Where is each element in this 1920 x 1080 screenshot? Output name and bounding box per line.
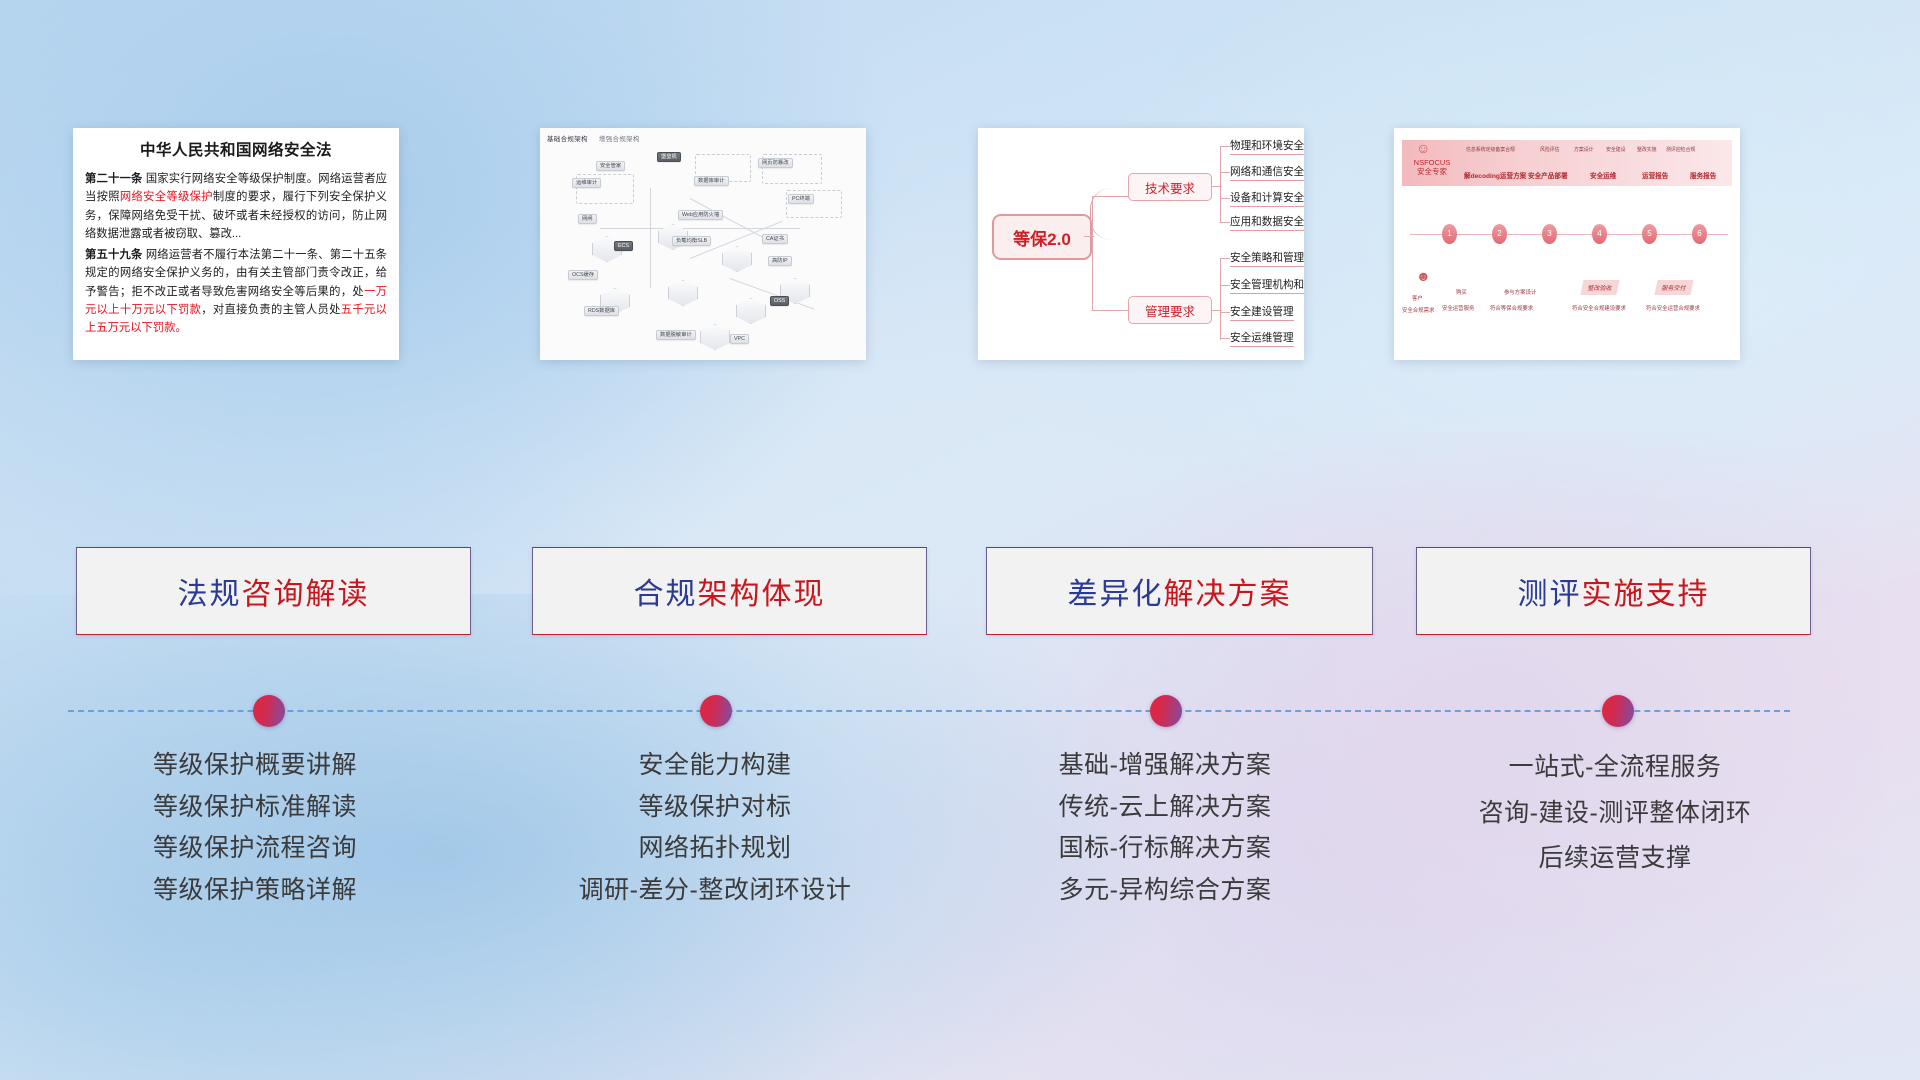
- arch-node: CA证书: [762, 234, 788, 244]
- list-item: 等级保护概要讲解: [60, 745, 450, 787]
- detail-column-4: 一站式-全流程服务 咨询-建设-测评整体闭环 后续运营支撑: [1410, 745, 1820, 882]
- law-article-59: 第五十九条 网络运营者不履行本法第二十一条、第二十五条规定的网络安全保护义务的，…: [85, 246, 387, 337]
- roadmap-footer: 安全运营服务: [1442, 304, 1474, 312]
- mindmap-leaf: 应用和数据安全: [1230, 214, 1304, 231]
- law-article-21-highlight: 网络安全等级保护: [120, 191, 213, 203]
- law-article-21-label: 第二十一条: [85, 173, 142, 185]
- card-nsfocus-roadmap[interactable]: ☺ NSFOCUS 安全专家 信息系统定级备案合规 风险评估 方案设计 安全建设…: [1394, 128, 1740, 360]
- arch-connector: [650, 188, 651, 288]
- list-item: 国标-行标解决方案: [965, 828, 1365, 870]
- label-text-red: 咨询解读: [242, 578, 370, 611]
- mindmap-root: 等保2.0: [992, 214, 1092, 260]
- list-item: 等级保护流程咨询: [60, 828, 450, 870]
- roadmap-top-label: 方案设计: [1574, 146, 1594, 153]
- roadmap-footer: 客户: [1412, 294, 1423, 302]
- arch-node: 高防IP: [768, 256, 792, 266]
- label-text: 合规架构体现: [634, 569, 826, 613]
- list-item: 一站式-全流程服务: [1410, 745, 1820, 791]
- timeline-dot-3[interactable]: [1150, 695, 1182, 727]
- roadmap-brand: NSFOCUS 安全专家: [1406, 158, 1458, 200]
- arch-node: PC终端: [788, 194, 814, 204]
- roadmap-chip: 整改验收: [1580, 280, 1619, 295]
- expert-avatar-icon: ☺: [1416, 140, 1430, 156]
- arch-node: ECS: [614, 241, 633, 251]
- service-label-row: 法规咨询解读 合规架构体现 差异化解决方案 测评实施支持: [0, 547, 1920, 635]
- timeline: [0, 693, 1920, 729]
- arch-node: Web应用防火墙: [678, 210, 723, 220]
- roadmap-footer: 符合安全合规建设要求: [1572, 304, 1626, 312]
- timeline-dot-4[interactable]: [1602, 695, 1634, 727]
- arch-node: 安全管家: [596, 161, 625, 171]
- roadmap-brand-line1: NSFOCUS: [1406, 158, 1458, 167]
- label-text: 法规咨询解读: [178, 569, 370, 613]
- roadmap-top-label: 风险评估: [1540, 146, 1560, 153]
- detail-column-2: 安全能力构建 等级保护对标 网络拓扑规划 调研-差分-整改闭环设计: [520, 745, 910, 911]
- arch-node: 网页防篡改: [758, 158, 793, 168]
- label-text: 测评实施支持: [1518, 569, 1710, 613]
- mindmap-leaf: 安全运维管理: [1230, 330, 1294, 347]
- label-text-blue: 合规: [634, 578, 698, 611]
- customer-avatar-icon: ☻: [1416, 268, 1431, 284]
- mindmap-leaf: 安全策略和管理制度: [1230, 250, 1304, 267]
- label-text-red: 解决方案: [1164, 578, 1292, 611]
- architecture-tab-basic[interactable]: 基础合规架构: [547, 136, 588, 143]
- roadmap-diagram: ☺ NSFOCUS 安全专家 信息系统定级备案合规 风险评估 方案设计 安全建设…: [1394, 128, 1740, 360]
- roadmap-footer: 符合安全运营合规要求: [1646, 304, 1700, 312]
- list-item: 等级保护标准解读: [60, 787, 450, 829]
- list-item: 安全能力构建: [520, 745, 910, 787]
- mindmap-leaf: 设备和计算安全: [1230, 190, 1304, 207]
- roadmap-step: 5: [1642, 224, 1657, 244]
- mindmap-leaf: 网络和通信安全: [1230, 164, 1304, 181]
- arch-hex-node: [736, 298, 766, 324]
- roadmap-caption: 安全产品部署: [1528, 170, 1568, 180]
- detail-column-3: 基础-增强解决方案 传统-云上解决方案 国标-行标解决方案 多元-异构综合方案: [965, 745, 1365, 911]
- label-box-assessment-support[interactable]: 测评实施支持: [1416, 547, 1811, 635]
- roadmap-step: 4: [1592, 224, 1607, 244]
- list-item: 传统-云上解决方案: [965, 787, 1365, 829]
- timeline-dot-2[interactable]: [700, 695, 732, 727]
- list-item: 等级保护对标: [520, 787, 910, 829]
- mindmap-leaf: 安全建设管理: [1230, 304, 1294, 321]
- arch-hex-node: [700, 324, 730, 350]
- mindmap-branch-management: 管理要求: [1128, 296, 1212, 324]
- label-text-blue: 差异化: [1068, 578, 1164, 611]
- roadmap-chip: 服务交付: [1654, 280, 1693, 295]
- list-item: 多元-异构综合方案: [965, 870, 1365, 912]
- roadmap-footer: 参与方案设计: [1504, 288, 1536, 296]
- roadmap-footer: 购买: [1456, 288, 1467, 296]
- label-text: 差异化解决方案: [1068, 569, 1292, 613]
- label-box-compliance-architecture[interactable]: 合规架构体现: [532, 547, 927, 635]
- detail-column-1: 等级保护概要讲解 等级保护标准解读 等级保护流程咨询 等级保护策略详解: [60, 745, 450, 911]
- roadmap-top-label: 安全建设: [1606, 146, 1626, 153]
- list-item: 等级保护策略详解: [60, 870, 450, 912]
- law-article-59-mid: ，对直接负责的主管人员处: [201, 304, 341, 316]
- roadmap-top-label: 整改实施: [1637, 146, 1657, 153]
- detail-lists-row: 等级保护概要讲解 等级保护标准解读 等级保护流程咨询 等级保护策略详解 安全能力…: [0, 745, 1920, 1045]
- timeline-dashed-line: [68, 710, 1790, 712]
- roadmap-top-label: 测评迎检合规: [1666, 146, 1695, 153]
- list-item: 咨询-建设-测评整体闭环: [1410, 791, 1820, 837]
- architecture-tabs: 基础合规架构 增强合规架构: [547, 133, 649, 143]
- label-text-red: 架构体现: [698, 578, 826, 611]
- list-item: 调研-差分-整改闭环设计: [520, 870, 910, 912]
- roadmap-step: 1: [1442, 224, 1457, 244]
- arch-node: 网闸: [578, 214, 597, 224]
- arch-node: VPC: [730, 334, 749, 344]
- roadmap-caption: 运营报告: [1642, 170, 1668, 180]
- arch-node: OCS缓存: [568, 270, 598, 280]
- arch-node: OSS: [770, 296, 789, 306]
- arch-hex-node: [668, 280, 698, 306]
- arch-node: 负载均衡SLB: [672, 236, 711, 246]
- arch-node: 数据库审计: [694, 176, 729, 186]
- roadmap-top-label: 信息系统定级备案合规: [1466, 146, 1515, 153]
- screenshot-cards-row: 中华人民共和国网络安全法 第二十一条 国家实行网络安全等级保护制度。网络运营者应…: [0, 128, 1920, 360]
- roadmap-axis: [1410, 234, 1728, 235]
- roadmap-caption: 服务报告: [1690, 170, 1716, 180]
- law-title: 中华人民共和国网络安全法: [85, 138, 387, 160]
- arch-node: 运维审计: [572, 178, 601, 188]
- roadmap-step: 3: [1542, 224, 1557, 244]
- mindmap-leaf: 物理和环境安全: [1230, 138, 1304, 155]
- roadmap-caption: 解decoding运营方案: [1464, 170, 1526, 180]
- label-text-blue: 测评: [1518, 578, 1582, 611]
- card-mindmap-dengbao[interactable]: 等保2.0 技术要求 管理要求 物理和环境安全 网络和通信安全 设备和计算安全 …: [978, 128, 1304, 360]
- arch-node: 数据脱敏审计: [656, 330, 696, 340]
- arch-node: 堡垒机: [657, 152, 681, 162]
- timeline-dot-1[interactable]: [253, 695, 285, 727]
- architecture-diagram: 基础合规架构 增强合规架构 堡垒机 运维审计 安全管家 数据库审计: [540, 128, 866, 360]
- label-text-red: 实施支持: [1582, 578, 1710, 611]
- roadmap-footer: 符合等保合规要求: [1490, 304, 1533, 312]
- roadmap-caption: 安全运维: [1590, 170, 1616, 180]
- arch-node: RDS数据库: [584, 306, 619, 316]
- roadmap-brand-line2: 安全专家: [1406, 167, 1458, 176]
- mindmap-leaf: 安全管理机构和人员: [1230, 277, 1304, 294]
- label-text-blue: 法规: [178, 578, 242, 611]
- list-item: 网络拓扑规划: [520, 828, 910, 870]
- arch-connector: [600, 228, 800, 229]
- card-cybersecurity-law[interactable]: 中华人民共和国网络安全法 第二十一条 国家实行网络安全等级保护制度。网络运营者应…: [73, 128, 399, 360]
- label-box-differentiated-solution[interactable]: 差异化解决方案: [986, 547, 1373, 635]
- architecture-tab-enhanced[interactable]: 增强合规架构: [599, 136, 640, 143]
- roadmap-footer: 安全合规需求: [1402, 306, 1434, 314]
- law-article-59-label: 第五十九条: [85, 249, 142, 261]
- law-document: 中华人民共和国网络安全法 第二十一条 国家实行网络安全等级保护制度。网络运营者应…: [73, 128, 399, 349]
- roadmap-step: 6: [1692, 224, 1707, 244]
- mindmap-diagram: 等保2.0 技术要求 管理要求 物理和环境安全 网络和通信安全 设备和计算安全 …: [978, 128, 1304, 360]
- mindmap-branch-technical: 技术要求: [1128, 173, 1212, 201]
- law-article-21: 第二十一条 国家实行网络安全等级保护制度。网络运营者应当按照网络安全等级保护制度…: [85, 170, 387, 243]
- arch-hex-node: [722, 246, 752, 272]
- list-item: 后续运营支撑: [1410, 836, 1820, 882]
- roadmap-step: 2: [1492, 224, 1507, 244]
- card-compliance-architecture[interactable]: 基础合规架构 增强合规架构 堡垒机 运维审计 安全管家 数据库审计: [540, 128, 866, 360]
- list-item: 基础-增强解决方案: [965, 745, 1365, 787]
- label-box-regulation-consulting[interactable]: 法规咨询解读: [76, 547, 471, 635]
